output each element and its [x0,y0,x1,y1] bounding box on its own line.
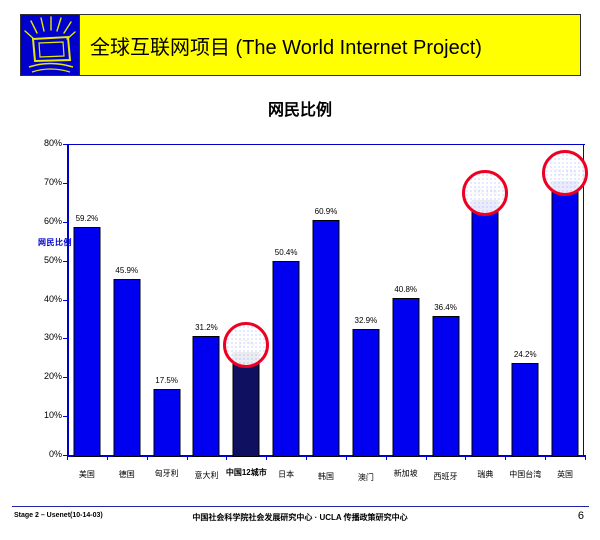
bar-slot: 40.8% [386,144,426,457]
bar-value-label: 31.2% [195,323,218,332]
x-tick-mark [226,455,227,460]
y-tick-label: 20% [26,372,62,381]
bar-value-label: 17.5% [155,376,178,385]
slide-canvas: 全球互联网项目 (The World Internet Project) 网民比… [0,0,600,540]
x-label-英国: 英国 [557,469,573,480]
y-tick-label: 60% [26,217,62,226]
y-tick-mark [63,300,68,301]
y-tick-mark [63,144,68,145]
x-label-韩国: 韩国 [318,471,334,482]
header-title: 全球互联网项目 (The World Internet Project) [80,15,580,75]
bar-slot: 24.2% [505,144,545,457]
x-label-德国: 德国 [119,469,135,480]
bar-value-label: 45.9% [115,266,138,275]
annotation-circle-英国 [542,150,588,196]
x-tick-mark [465,455,466,460]
bar-英国[interactable] [552,181,579,457]
bar-chart: 网民比例 0%10%20%30%40%50%60%70%80% 59.2%45.… [0,118,600,488]
x-tick-mark [426,455,427,460]
y-axis-tick-labels: 0%10%20%30%40%50%60%70%80% [22,118,62,488]
slide-header-banner: 全球互联网项目 (The World Internet Project) [20,14,581,76]
bar-slot: 50.4% [266,144,306,457]
bar-西班牙[interactable] [432,316,459,458]
bar-中国12城市[interactable] [233,352,260,457]
y-tick-mark [63,183,68,184]
bar-德国[interactable] [113,279,140,457]
x-tick-mark [107,455,108,460]
x-label-澳门: 澳门 [358,472,374,483]
x-tick-mark [386,455,387,460]
x-tick-mark [306,455,307,460]
y-tick-mark [63,416,68,417]
x-label-西班牙: 西班牙 [434,471,458,482]
x-tick-mark [147,455,148,460]
bar-日本[interactable] [273,261,300,457]
x-label-中国台湾: 中国台湾 [509,469,541,480]
x-label-美国: 美国 [79,469,95,480]
x-tick-mark [505,455,506,460]
bar-value-label: 32.9% [355,316,378,325]
bar-新加坡[interactable] [392,298,419,457]
x-label-新加坡: 新加坡 [394,468,418,479]
bar-意大利[interactable] [193,336,220,457]
x-label-匈牙利: 匈牙利 [155,468,179,479]
bar-value-label: 60.9% [315,207,338,216]
bar-value-label: 40.8% [394,285,417,294]
annotation-circle-瑞典 [462,170,508,216]
bar-瑞典[interactable] [472,200,499,457]
annotation-circle-中国12城市 [223,322,269,368]
y-tick-mark [63,222,68,223]
y-tick-label: 50% [26,256,62,265]
x-axis-tick-labels: 美国德国匈牙利意大利中国12城市日本韩国澳门新加坡西班牙瑞典中国台湾英国 [67,463,585,487]
bar-value-label: 59.2% [76,214,99,223]
y-tick-label: 30% [26,333,62,342]
x-tick-mark [67,455,68,460]
x-tick-mark [545,455,546,460]
y-tick-label: 80% [26,139,62,148]
x-label-瑞典: 瑞典 [477,469,493,480]
bar-匈牙利[interactable] [153,389,180,457]
bar-slot: 60.9% [306,144,346,457]
x-label-中国12城市: 中国12城市 [226,467,267,478]
y-tick-label: 0% [26,450,62,459]
bar-value-label: 50.4% [275,248,298,257]
x-label-日本: 日本 [278,469,294,480]
bar-韩国[interactable] [312,220,339,457]
footer-divider [12,506,589,507]
x-tick-mark [187,455,188,460]
bar-中国台湾[interactable] [512,363,539,457]
bar-澳门[interactable] [352,329,379,457]
x-tick-mark [585,455,586,460]
bar-value-label: 24.2% [514,350,537,359]
y-tick-label: 10% [26,411,62,420]
bar-slot: 36.4% [426,144,466,457]
x-tick-mark [346,455,347,460]
y-tick-mark [63,338,68,339]
bar-slot: 31.2% [187,144,227,457]
bar-美国[interactable] [73,227,100,457]
y-tick-label: 40% [26,295,62,304]
footer-center-text: 中国社会科学院社会发展研究中心 · UCLA 传播政策研究中心 [0,512,600,523]
bar-slot: 45.9% [107,144,147,457]
bar-slot: 17.5% [147,144,187,457]
bar-slot: 59.2% [67,144,107,457]
footer-page-number: 6 [578,510,584,522]
y-tick-mark [63,377,68,378]
bar-slot: 27% [226,144,266,457]
x-tick-mark [266,455,267,460]
bar-value-label: 36.4% [434,303,457,312]
bar-slot: 32.9% [346,144,386,457]
x-label-意大利: 意大利 [194,470,218,481]
y-tick-label: 70% [26,178,62,187]
y-tick-mark [63,261,68,262]
chart-title: 网民比例 [0,96,600,120]
monitor-rays-icon [21,15,80,75]
